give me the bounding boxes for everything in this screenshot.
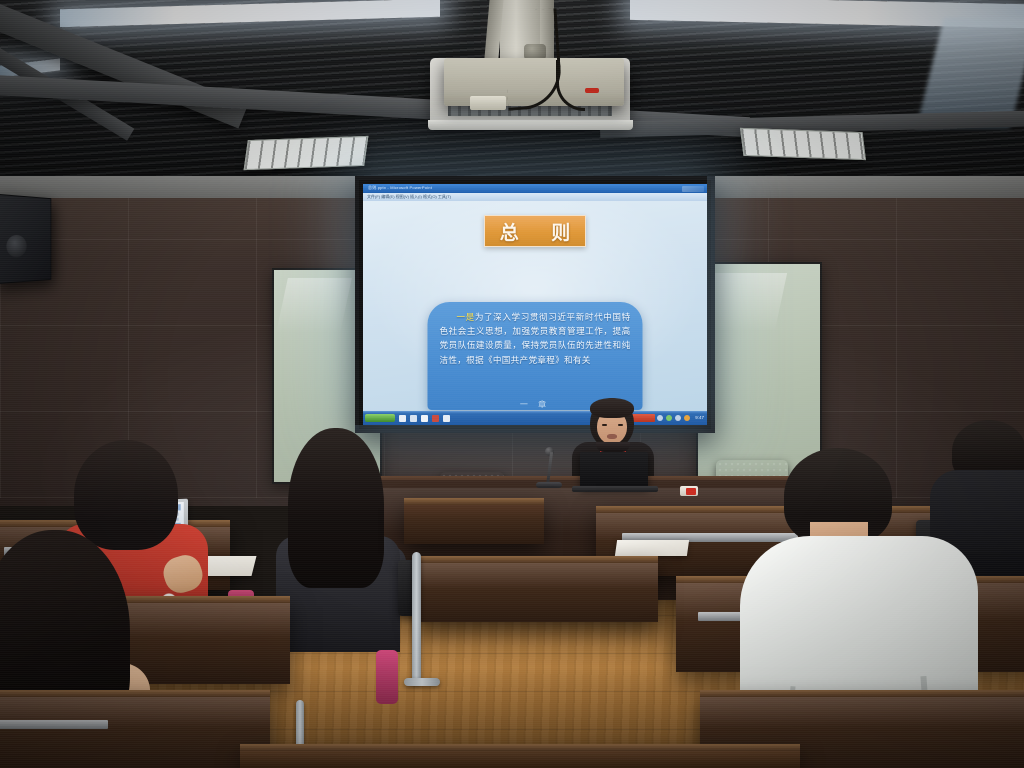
presenter-eye — [602, 424, 607, 426]
powerpoint-menu-labels: 文件(F) 编辑(E) 视图(V) 插入(I) 格式(O) 工具(T) — [367, 194, 451, 200]
chair-rail — [412, 552, 421, 684]
taskbar-icon[interactable] — [410, 415, 417, 422]
start-button[interactable] — [365, 414, 395, 422]
classroom-scene: 总则.pptx - Microsoft PowerPoint 文件(F) 编辑(… — [0, 0, 1024, 768]
window-controls[interactable] — [682, 186, 704, 192]
desk-gloss — [700, 697, 1024, 728]
desk-edge — [700, 690, 1024, 697]
slide-body-box: 一是为了深入学习贯彻习近平新时代中国特色社会主义思想，加强党员教育管理工作，提高… — [428, 302, 643, 410]
wall-speaker — [0, 194, 51, 285]
powerpoint-window-title: 总则.pptx - Microsoft PowerPoint — [368, 185, 548, 191]
quick-launch-icons[interactable] — [399, 415, 450, 422]
desk-edge — [240, 744, 800, 751]
paper-sheet — [615, 540, 689, 556]
tiered-desk-row — [240, 744, 800, 768]
tiered-desk-row — [0, 690, 270, 768]
projected-desktop: 总则.pptx - Microsoft PowerPoint 文件(F) 编辑(… — [363, 184, 707, 425]
slide-title-box: 总 则 — [484, 215, 586, 247]
desk-gloss — [418, 563, 658, 589]
bag-item — [376, 650, 398, 704]
speaker-cone-icon — [6, 235, 26, 258]
system-tray[interactable]: 9:47 — [657, 415, 704, 421]
tray-icon[interactable] — [675, 415, 681, 421]
tray-icon[interactable] — [684, 415, 690, 421]
ceiling-vent-icon — [740, 128, 866, 160]
ceiling-vent-icon — [244, 136, 369, 170]
attendee-center-long-hair — [276, 428, 396, 648]
taskbar-icon[interactable] — [443, 415, 450, 422]
taskbar-clock: 9:47 — [695, 415, 704, 420]
microphone-base — [536, 482, 562, 488]
projector-lens-icon — [470, 96, 506, 110]
powerpoint-menu-bar[interactable]: 文件(F) 编辑(E) 视图(V) 插入(I) 格式(O) 工具(T) — [363, 193, 707, 201]
presenter-collar — [596, 442, 630, 452]
slide-title: 总 则 — [487, 218, 584, 245]
chair-rail — [404, 678, 440, 686]
presenter-eye — [618, 424, 623, 426]
desk-edge — [418, 556, 658, 563]
desk-edge — [404, 498, 544, 505]
presenter-laptop-base — [572, 486, 658, 492]
slide-footer-text: 一 章 — [520, 399, 550, 410]
tray-icon[interactable] — [657, 415, 663, 421]
presenter-hair — [590, 398, 634, 418]
taskbar-icon[interactable] — [421, 415, 428, 422]
attendee-hair — [288, 428, 384, 588]
taskbar-icon[interactable] — [399, 415, 406, 422]
projector-indicator-light — [585, 88, 599, 93]
slide-canvas: 总 则 一是为了深入学习贯彻习近平新时代中国特色社会主义思想，加强党员教育管理工… — [363, 201, 707, 411]
taskbar-icon[interactable] — [432, 415, 439, 422]
tray-icon[interactable] — [666, 415, 672, 421]
slide-body-text: 一是为了深入学习贯彻习近平新时代中国特色社会主义思想，加强党员教育管理工作，提高… — [440, 311, 631, 368]
desk-metal-trim — [0, 720, 108, 729]
ac-bottom-edge — [428, 120, 633, 130]
presenter-laptop[interactable] — [580, 452, 648, 488]
desk-edge — [0, 690, 270, 697]
whiteboard-gloss — [277, 278, 352, 333]
tiered-desk-row — [418, 556, 658, 622]
desk-item-red — [686, 488, 696, 495]
presenter-mouth — [607, 434, 617, 439]
tiered-desk-row — [404, 498, 544, 544]
powerpoint-title-bar: 总则.pptx - Microsoft PowerPoint — [363, 184, 707, 193]
projection-screen: 总则.pptx - Microsoft PowerPoint 文件(F) 编辑(… — [355, 176, 715, 433]
